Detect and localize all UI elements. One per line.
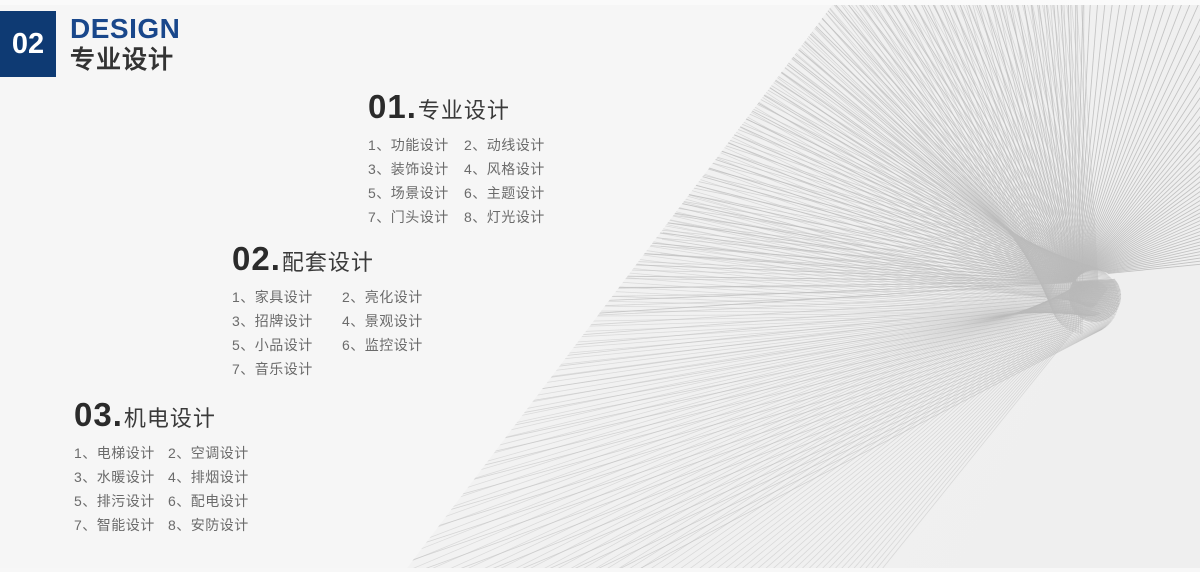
list-cell: 1、功能设计 [368, 133, 464, 157]
list-cell: 2、空调设计 [168, 441, 249, 465]
list-item: 5、小品设计 6、监控设计 [232, 333, 423, 357]
list-item: 5、排污设计 6、配电设计 [74, 489, 249, 513]
list-cell: 3、招牌设计 [232, 309, 342, 333]
list-cell: 3、装饰设计 [368, 157, 464, 181]
section-dot-03: . [113, 398, 122, 431]
section-heading-01: 01 . 专业设计 [368, 90, 545, 123]
section-item-list-03: 1、电梯设计 2、空调设计 3、水暖设计 4、排烟设计 5、排污设计 6、配电设… [74, 441, 249, 537]
section-dot-02: . [271, 242, 280, 275]
content-section-01: 01 . 专业设计 1、功能设计 2、动线设计 3、装饰设计 4、风格设计 5、… [368, 90, 545, 229]
list-cell: 5、场景设计 [368, 181, 464, 205]
page-title-en: DESIGN [70, 14, 180, 44]
list-item: 7、音乐设计 [232, 357, 423, 381]
section-item-list-01: 1、功能设计 2、动线设计 3、装饰设计 4、风格设计 5、场景设计 6、主题设… [368, 133, 545, 229]
list-cell: 7、门头设计 [368, 205, 464, 229]
list-item: 1、家具设计 2、亮化设计 [232, 285, 423, 309]
list-cell: 6、配电设计 [168, 489, 249, 513]
top-edge-strip [0, 0, 1200, 5]
section-title-01: 专业设计 [418, 100, 510, 122]
list-cell: 4、景观设计 [342, 309, 423, 333]
list-item: 3、招牌设计 4、景观设计 [232, 309, 423, 333]
section-title-02: 配套设计 [282, 252, 374, 274]
list-cell: 8、灯光设计 [464, 205, 545, 229]
content-section-03: 03 . 机电设计 1、电梯设计 2、空调设计 3、水暖设计 4、排烟设计 5、… [74, 398, 249, 537]
content-section-02: 02 . 配套设计 1、家具设计 2、亮化设计 3、招牌设计 4、景观设计 5、… [232, 242, 423, 381]
list-cell: 2、动线设计 [464, 133, 545, 157]
list-item: 1、电梯设计 2、空调设计 [74, 441, 249, 465]
section-item-list-02: 1、家具设计 2、亮化设计 3、招牌设计 4、景观设计 5、小品设计 6、监控设… [232, 285, 423, 381]
list-cell: 7、智能设计 [74, 513, 168, 537]
list-cell: 6、主题设计 [464, 181, 545, 205]
list-cell: 5、小品设计 [232, 333, 342, 357]
list-cell: 6、监控设计 [342, 333, 423, 357]
list-cell: 3、水暖设计 [74, 465, 168, 489]
list-item: 1、功能设计 2、动线设计 [368, 133, 545, 157]
page-title-cn: 专业设计 [70, 45, 180, 75]
list-cell: 5、排污设计 [74, 489, 168, 513]
list-item: 3、装饰设计 4、风格设计 [368, 157, 545, 181]
list-cell: 4、排烟设计 [168, 465, 249, 489]
section-heading-03: 03 . 机电设计 [74, 398, 249, 431]
section-dot-01: . [407, 90, 416, 123]
list-cell: 2、亮化设计 [342, 285, 423, 309]
list-cell: 7、音乐设计 [232, 357, 342, 381]
list-cell: 8、安防设计 [168, 513, 249, 537]
list-cell: 1、电梯设计 [74, 441, 168, 465]
section-number-03: 03 [74, 398, 113, 431]
section-title-03: 机电设计 [124, 408, 216, 430]
list-cell: 4、风格设计 [464, 157, 545, 181]
list-item: 7、智能设计 8、安防设计 [74, 513, 249, 537]
slide-canvas: 02 DESIGN 专业设计 01 . 专业设计 1、功能设计 2、动线设计 3… [0, 0, 1200, 572]
list-item: 3、水暖设计 4、排烟设计 [74, 465, 249, 489]
section-number-01: 01 [368, 90, 407, 123]
section-heading-02: 02 . 配套设计 [232, 242, 423, 275]
section-number-02: 02 [232, 242, 271, 275]
list-item: 5、场景设计 6、主题设计 [368, 181, 545, 205]
slide-header: 02 DESIGN 专业设计 [0, 11, 180, 77]
list-cell: 1、家具设计 [232, 285, 342, 309]
section-number-badge: 02 [0, 11, 56, 77]
header-title-group: DESIGN 专业设计 [70, 11, 180, 77]
bottom-edge-strip [0, 568, 1200, 572]
list-item: 7、门头设计 8、灯光设计 [368, 205, 545, 229]
badge-number-text: 02 [12, 30, 44, 59]
